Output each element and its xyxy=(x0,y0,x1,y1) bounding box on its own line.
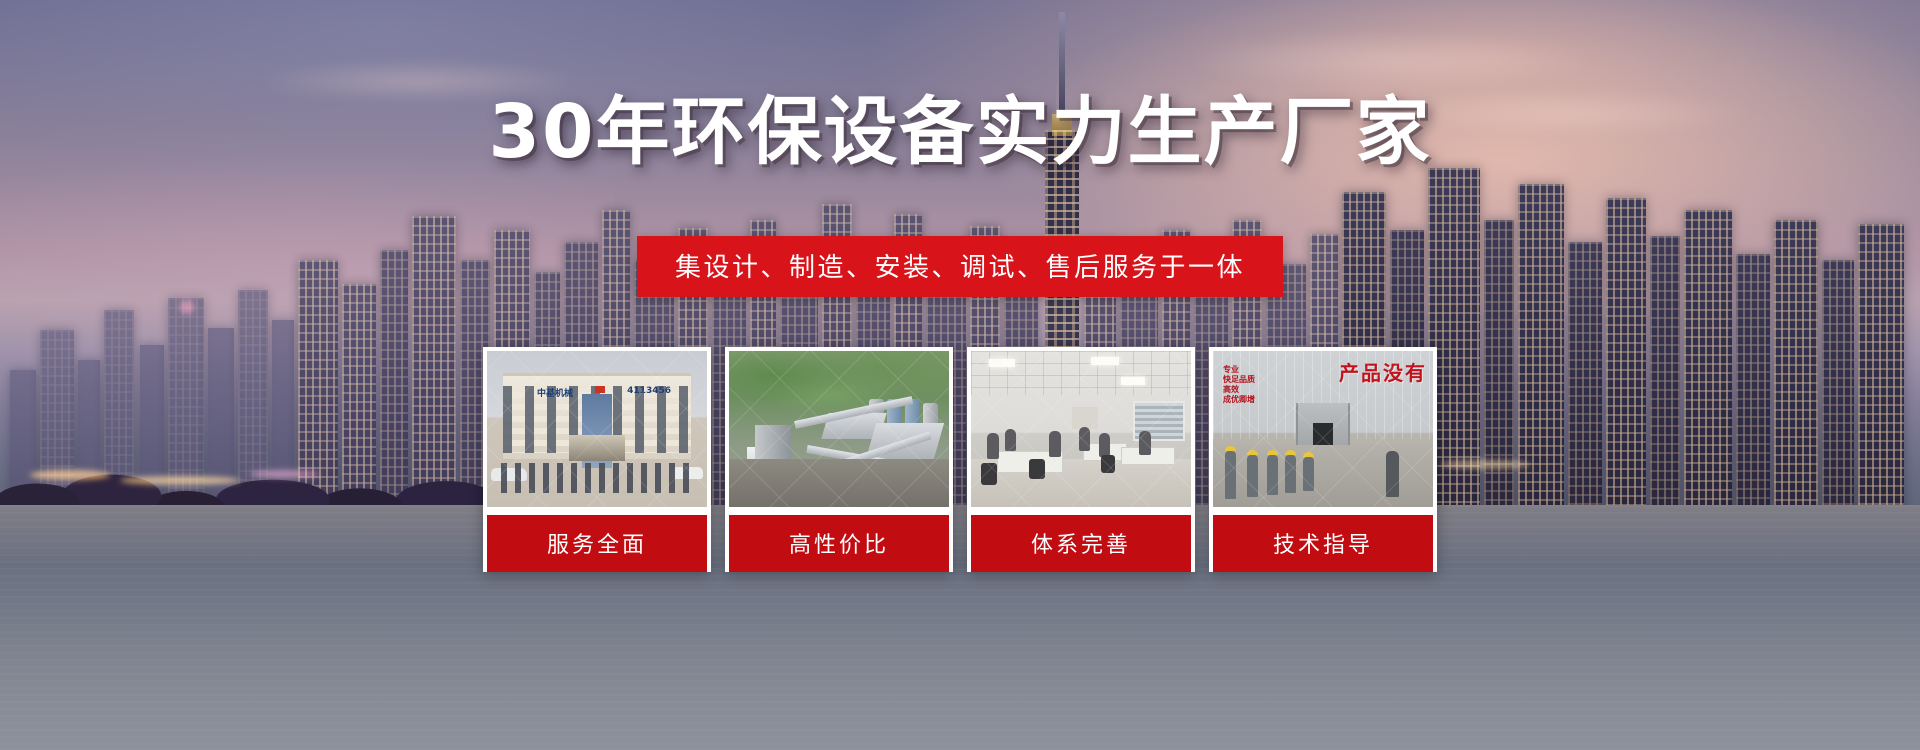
feature-card[interactable]: 高性价比 xyxy=(725,347,953,572)
feature-card-list: 中基机械 4113456 服务全面 xyxy=(0,347,1920,572)
feature-card[interactable]: 体系完善 xyxy=(967,347,1195,572)
banner-subtitle: 集设计、制造、安装、调试、售后服务于一体 xyxy=(637,236,1283,297)
hero-banner: 30年环保设备实力生产厂家 集设计、制造、安装、调试、售后服务于一体 中基机械 … xyxy=(0,0,1920,750)
banner-subtitle-wrap: 集设计、制造、安装、调试、售后服务于一体 xyxy=(0,236,1920,297)
flag-icon xyxy=(595,386,605,393)
banner-content: 30年环保设备实力生产厂家 集设计、制造、安装、调试、售后服务于一体 中基机械 … xyxy=(0,0,1920,750)
card-label: 技术指导 xyxy=(1213,511,1433,572)
card-label: 服务全面 xyxy=(487,511,707,572)
building-sign-logo: 中基机械 xyxy=(537,386,573,399)
building-sign-phone: 4113456 xyxy=(627,386,671,396)
wall-art xyxy=(1072,407,1098,429)
staff-row xyxy=(501,463,693,493)
card-photo-factory-workers: 产品没有 专业快足品质高效成优卿增 xyxy=(1213,351,1433,507)
feature-card[interactable]: 产品没有 专业快足品质高效成优卿增 技术指导 xyxy=(1209,347,1437,572)
factory-sign-small: 专业快足品质高效成优卿增 xyxy=(1223,365,1255,405)
card-label: 体系完善 xyxy=(971,511,1191,572)
card-photo-industrial-plant xyxy=(729,351,949,507)
banner-headline: 30年环保设备实力生产厂家 xyxy=(0,95,1920,169)
card-photo-office-interior xyxy=(971,351,1191,507)
supervisor-figure xyxy=(1386,451,1399,497)
card-photo-office-building: 中基机械 4113456 xyxy=(487,351,707,507)
feature-card[interactable]: 中基机械 4113456 服务全面 xyxy=(483,347,711,572)
factory-sign: 产品没有 xyxy=(1339,357,1427,386)
card-label: 高性价比 xyxy=(729,511,949,572)
